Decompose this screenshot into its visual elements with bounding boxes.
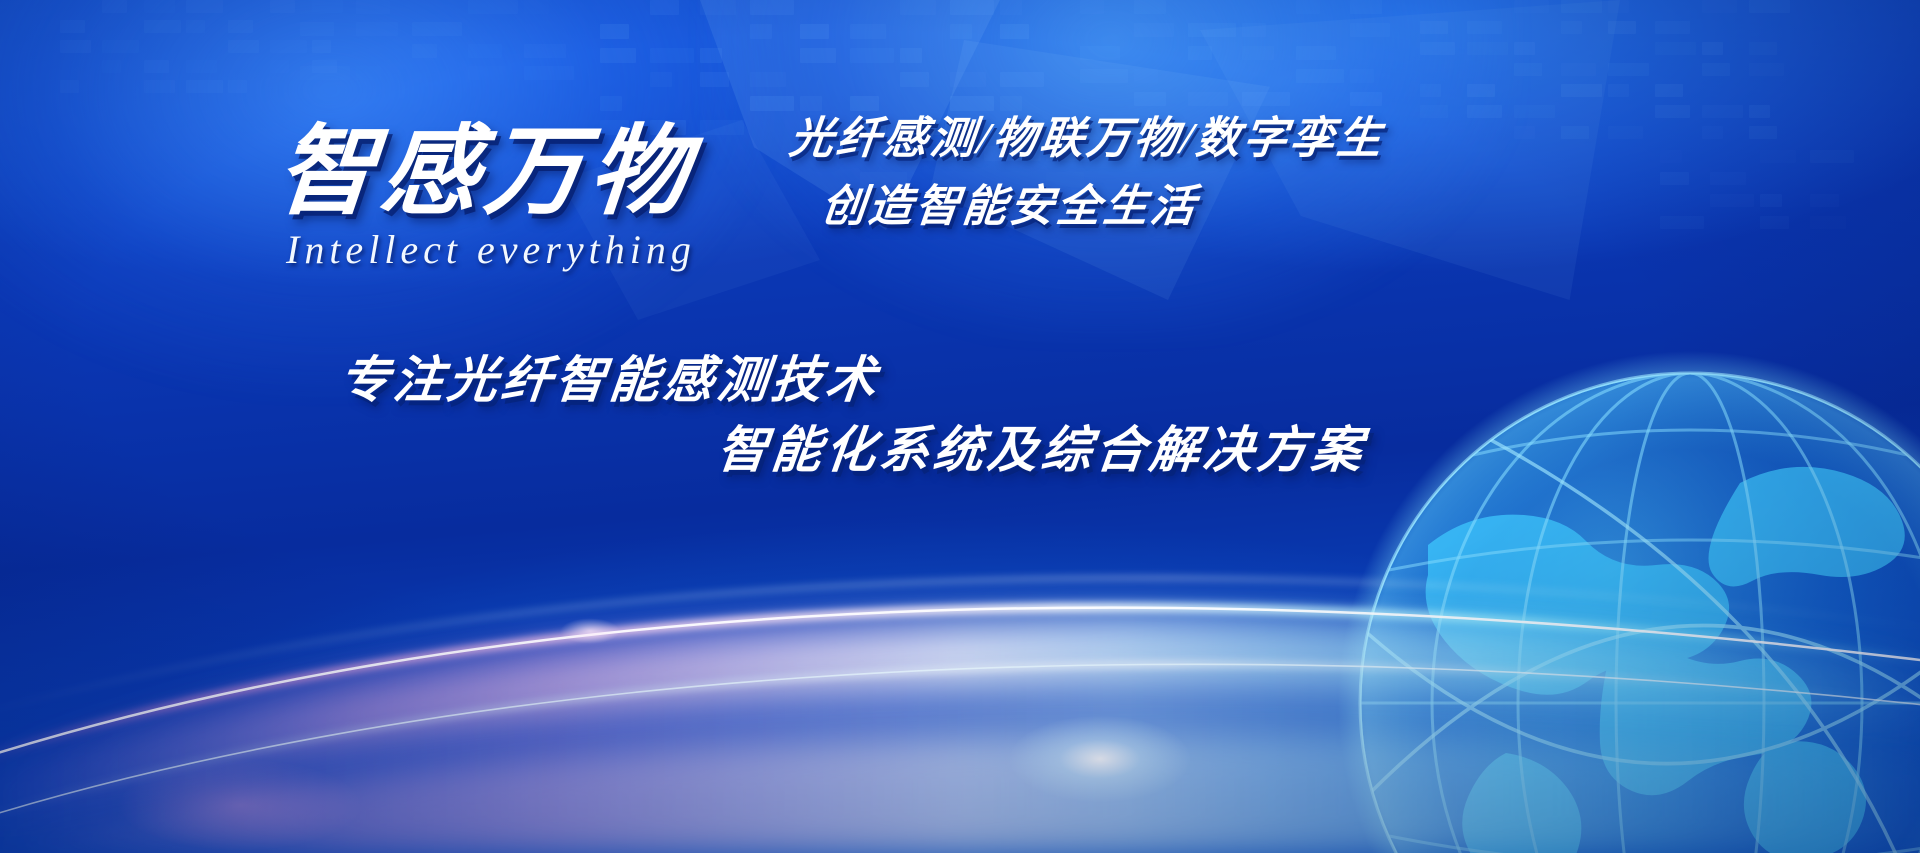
marketing-banner: 智感万物 Intellect everything 光纤感测/物联万物/数字孪生… [0,0,1920,853]
headline-chinese: 智感万物 [272,92,700,234]
tagline-line-2: 创造智能安全生活 [819,170,1202,234]
subheading-line-1: 专注光纤智能感测技术 [336,340,884,412]
banner-text-layer: 智感万物 Intellect everything 光纤感测/物联万物/数字孪生… [0,0,1920,853]
headline-english: Intellect everything [286,226,696,273]
subheading-line-2: 智能化系统及综合解决方案 [714,410,1370,482]
tagline-line-1: 光纤感测/物联万物/数字孪生 [787,102,1388,166]
